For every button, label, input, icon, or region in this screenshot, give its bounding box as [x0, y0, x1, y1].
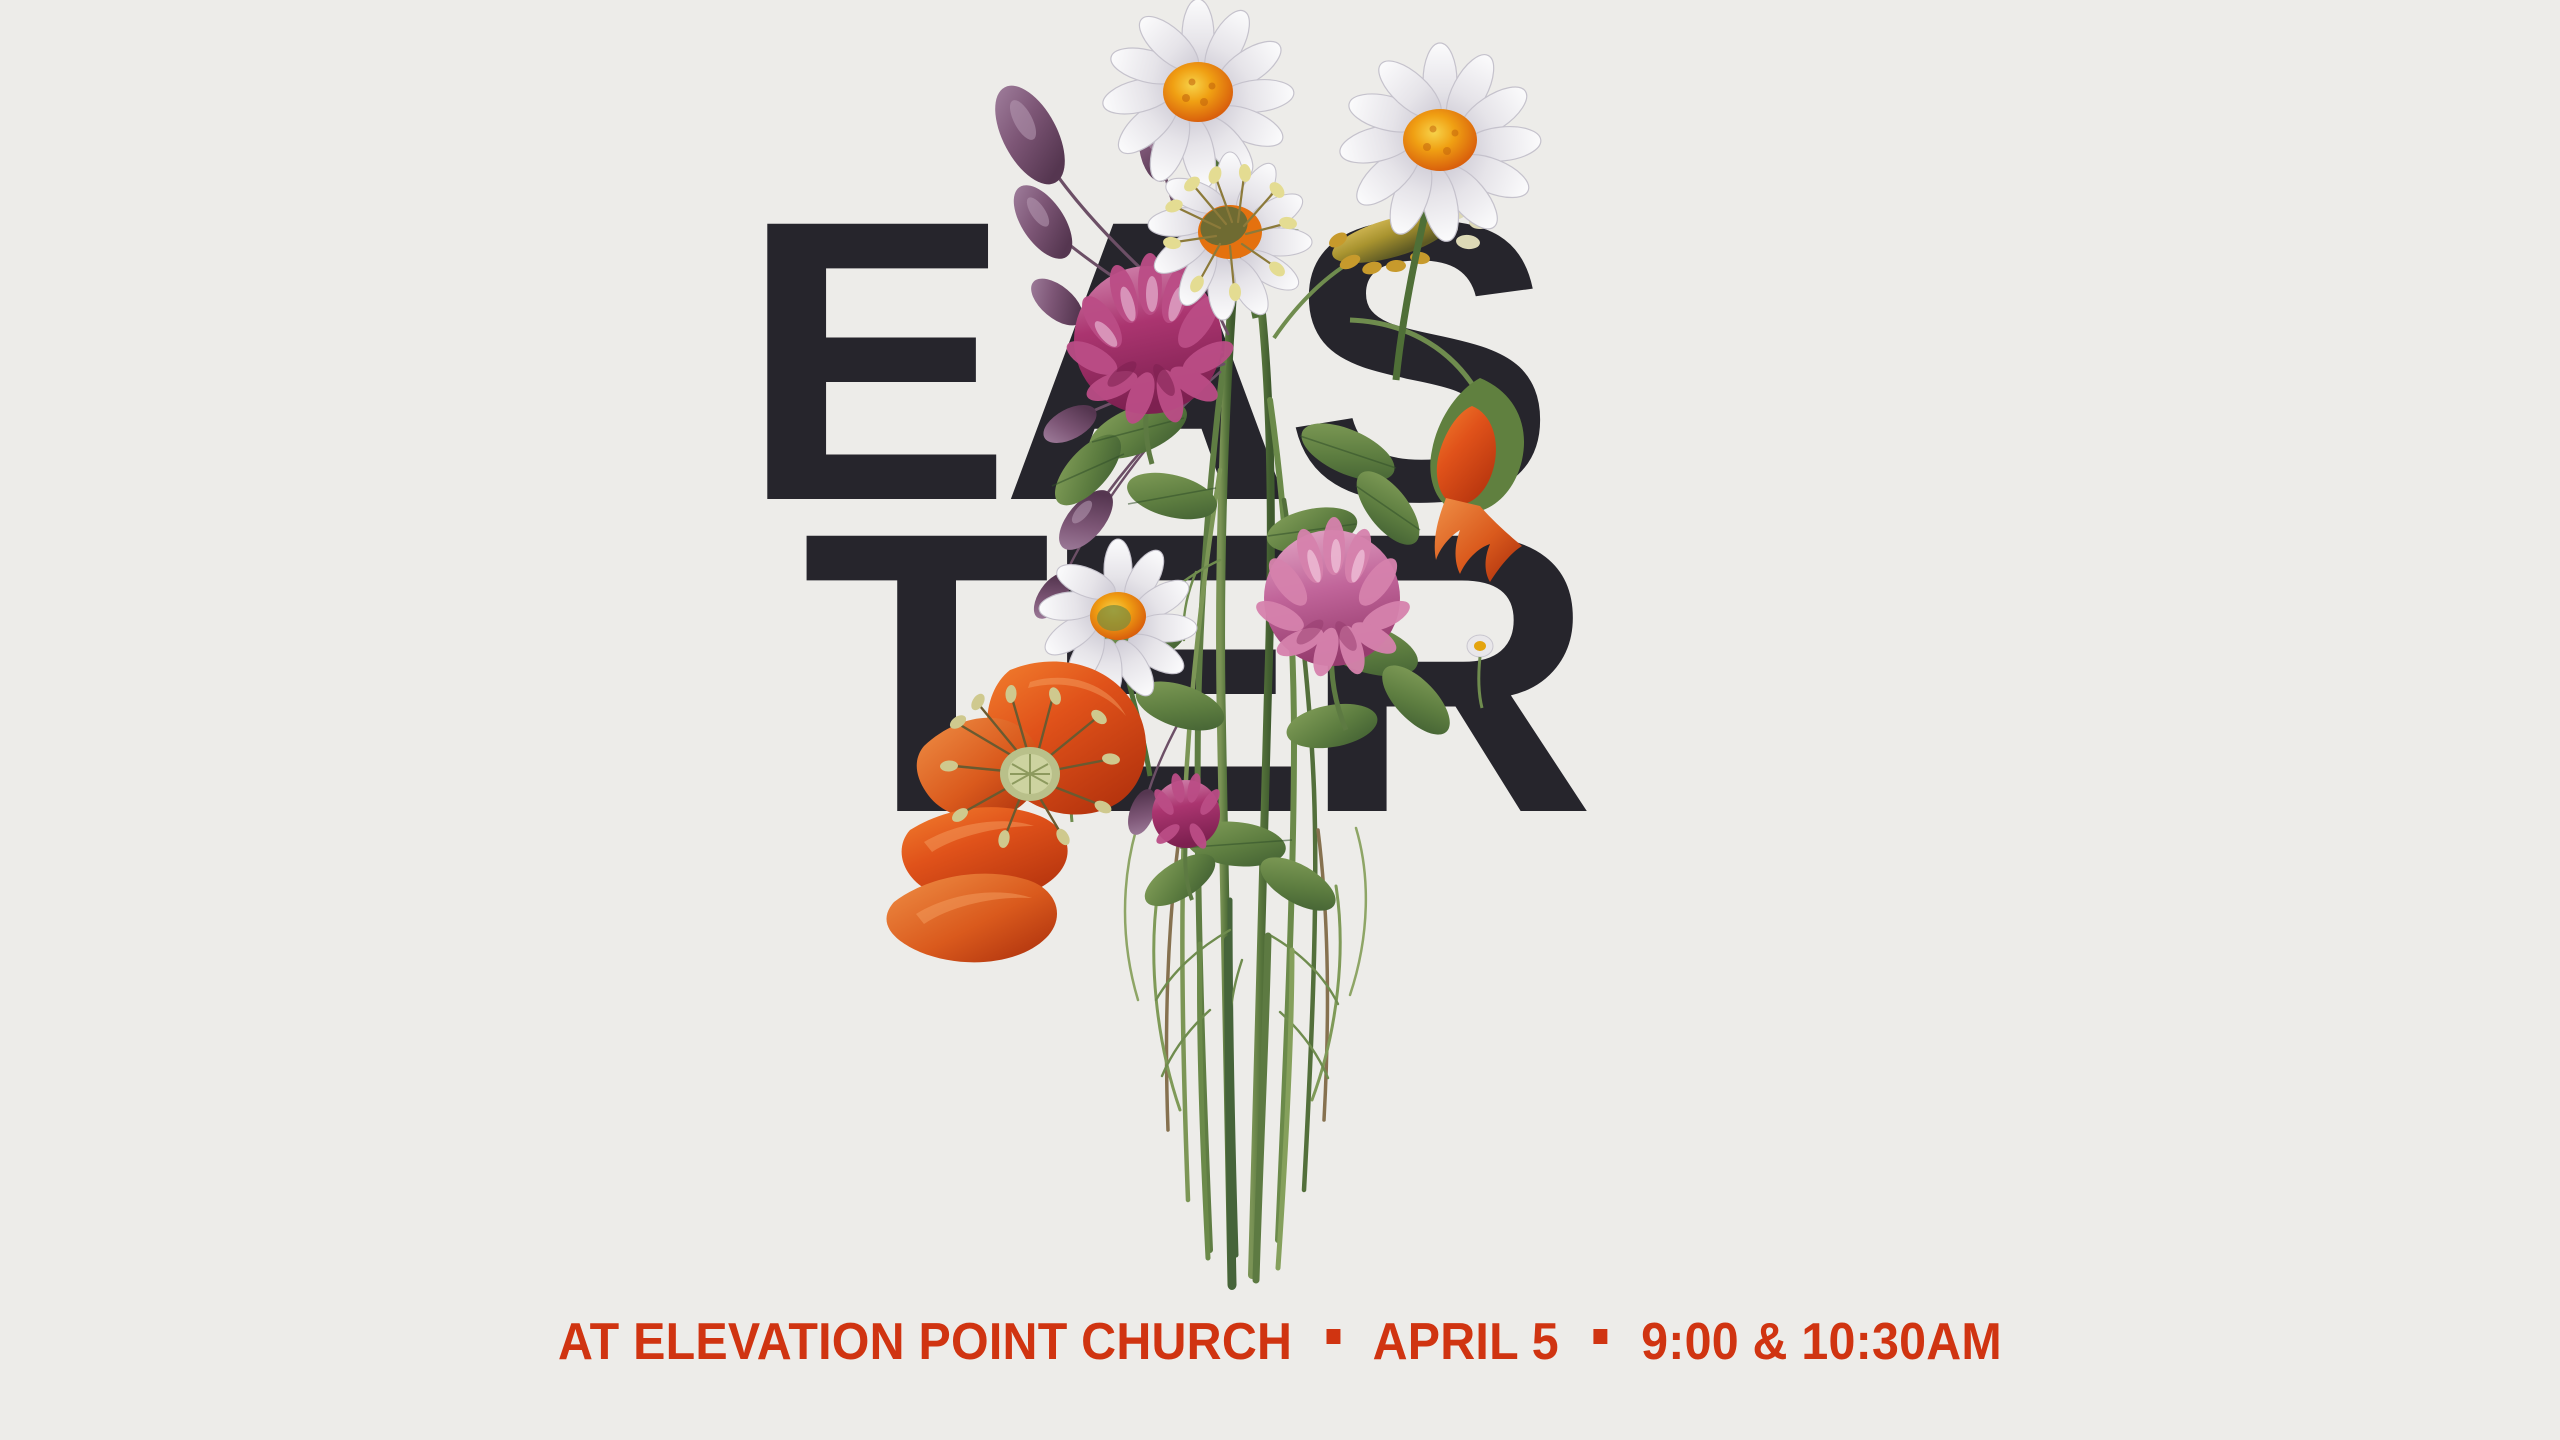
separator-bullet-2: [1593, 1329, 1607, 1344]
times-text: 9:00 & 10:30AM: [1641, 1313, 2002, 1371]
event-details-line: AT ELEVATION POINT CHURCH APRIL 5 9:00 &…: [90, 1312, 2471, 1372]
venue-text: AT ELEVATION POINT CHURCH: [558, 1313, 1292, 1371]
separator-bullet-1: [1326, 1329, 1340, 1344]
easter-wordmark: EAS TER: [740, 205, 1840, 829]
headline-layer: EAS TER: [0, 0, 2560, 1440]
date-text: APRIL 5: [1373, 1313, 1559, 1371]
headline-line-2: TER: [802, 517, 1861, 829]
poster-canvas: EAS TER: [0, 0, 2560, 1440]
